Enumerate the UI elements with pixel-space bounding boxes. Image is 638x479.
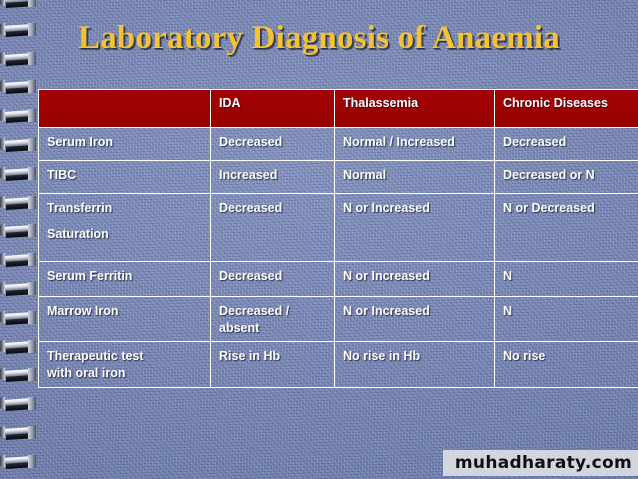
row-label-transferrin-saturation: Transferrin Saturation [39, 194, 211, 262]
cell-thalassemia: N or Increased [335, 262, 495, 297]
spiral-ring [0, 311, 40, 324]
cell-ida: Rise in Hb [211, 341, 335, 387]
spiral-ring-cap [0, 253, 5, 265]
cell-text: Increased [219, 168, 277, 182]
cell-chronic: N [495, 297, 638, 342]
row-label-serum-iron: Serum Iron [39, 128, 211, 161]
spiral-ring-cap [0, 426, 5, 438]
laboratory-diagnosis-table: IDA Thalassemia Chronic Diseases Serum I… [38, 89, 638, 388]
cell-chronic: No rise [495, 341, 638, 387]
diagnosis-table-container: IDA Thalassemia Chronic Diseases Serum I… [38, 89, 605, 388]
row-label-text-line2: Saturation [47, 226, 202, 243]
spiral-ring [0, 0, 40, 7]
spiral-ring [0, 397, 40, 410]
cell-ida: Decreased [211, 128, 335, 161]
table-header-row: IDA Thalassemia Chronic Diseases [39, 90, 638, 128]
spiral-ring-cap [0, 138, 5, 150]
spiral-ring [0, 167, 40, 180]
cell-ida: Decreased [211, 262, 335, 297]
spiral-binding [0, 0, 42, 479]
spiral-ring-hook [28, 52, 36, 65]
table-row: Serum Iron Decreased Normal / Increased … [39, 128, 638, 161]
column-header-parameter [39, 90, 211, 128]
spiral-ring [0, 80, 40, 93]
spiral-ring [0, 109, 40, 122]
cell-thalassemia: No rise in Hb [335, 341, 495, 387]
row-label-tibc: TIBC [39, 161, 211, 194]
row-label-text: Marrow Iron [47, 304, 119, 318]
spiral-ring-hook [28, 0, 36, 7]
spiral-ring [0, 426, 40, 439]
cell-ida: Decreased [211, 194, 335, 262]
cell-text: Decreased / [219, 304, 289, 318]
spiral-ring-cap [0, 282, 5, 294]
row-label-text: Serum Iron [47, 135, 113, 149]
table-row: Therapeutic test with oral iron Rise in … [39, 341, 638, 387]
spiral-ring-hook [28, 80, 36, 93]
spiral-ring-cap [0, 80, 5, 92]
cell-chronic: N [495, 262, 638, 297]
table-head: IDA Thalassemia Chronic Diseases [39, 90, 638, 128]
spiral-ring-cap [0, 311, 5, 323]
table-row: Serum Ferritin Decreased N or Increased … [39, 262, 638, 297]
spiral-ring-cap [0, 397, 5, 409]
spiral-ring-cap [0, 52, 5, 64]
spiral-ring-cap [0, 340, 5, 352]
spiral-ring [0, 52, 40, 65]
spiral-ring-cap [0, 196, 5, 208]
spiral-ring-hook [28, 138, 36, 151]
cell-text: Decreased [219, 135, 282, 149]
spiral-ring [0, 340, 40, 353]
cell-thalassemia: N or Increased [335, 194, 495, 262]
spiral-ring-cap [0, 23, 5, 35]
spiral-ring [0, 368, 40, 381]
cell-chronic: Decreased or N [495, 161, 638, 194]
spiral-ring [0, 23, 40, 36]
row-label-text: TIBC [47, 168, 76, 182]
cell-thalassemia: Normal [335, 161, 495, 194]
spiral-ring-hook [28, 224, 36, 237]
spiral-ring [0, 455, 40, 468]
spiral-ring-hook [28, 167, 36, 180]
spiral-ring-hook [28, 340, 36, 353]
cell-thalassemia: N or Increased [335, 297, 495, 342]
spiral-ring-cap [0, 109, 5, 121]
table-body: Serum Iron Decreased Normal / Increased … [39, 128, 638, 388]
table-row: TIBC Increased Normal Decreased or N [39, 161, 638, 194]
spiral-ring-hook [28, 253, 36, 266]
spiral-ring-cap [0, 0, 5, 6]
row-label-text-line2: with oral iron [47, 365, 202, 382]
slide-title: Laboratory Diagnosis of Anaemia [0, 20, 638, 57]
cell-chronic: Decreased [495, 128, 638, 161]
spiral-ring-hook [28, 455, 36, 468]
watermark-badge: muhadharaty.com [443, 450, 638, 476]
row-label-text: Serum Ferritin [47, 269, 132, 283]
column-header-ida: IDA [211, 90, 335, 128]
row-label-text: Therapeutic test [47, 349, 144, 363]
spiral-ring-hook [28, 368, 36, 381]
spiral-ring-cap [0, 224, 5, 236]
row-label-marrow-iron: Marrow Iron [39, 297, 211, 342]
table-row: Marrow Iron Decreased / absent N or Incr… [39, 297, 638, 342]
cell-text: Decreased [219, 269, 282, 283]
spiral-ring-hook [28, 426, 36, 439]
spiral-ring-cap [0, 167, 5, 179]
spiral-ring-hook [28, 109, 36, 122]
row-label-serum-ferritin: Serum Ferritin [39, 262, 211, 297]
spiral-ring-hook [28, 282, 36, 295]
spiral-ring [0, 196, 40, 209]
spiral-ring [0, 224, 40, 237]
spiral-ring-hook [28, 23, 36, 36]
cell-chronic: N or Decreased [495, 194, 638, 262]
cell-ida: Increased [211, 161, 335, 194]
spiral-ring-cap [0, 455, 5, 467]
row-label-text: Transferrin [47, 201, 112, 215]
watermark-text: muhadharaty.com [455, 453, 632, 473]
spiral-ring [0, 253, 40, 266]
cell-text: Decreased [219, 201, 282, 215]
cell-text-line2: absent [219, 320, 326, 337]
row-label-therapeutic-test: Therapeutic test with oral iron [39, 341, 211, 387]
column-header-thalassemia: Thalassemia [335, 90, 495, 128]
column-header-chronic-diseases: Chronic Diseases [495, 90, 638, 128]
spiral-ring-hook [28, 397, 36, 410]
spiral-ring-cap [0, 368, 5, 380]
slide-canvas: Laboratory Diagnosis of Anaemia IDA Thal… [0, 0, 638, 479]
table-row: Transferrin Saturation Decreased N or In… [39, 194, 638, 262]
spiral-ring-hook [28, 311, 36, 324]
cell-text: Rise in Hb [219, 349, 280, 363]
spiral-ring [0, 138, 40, 151]
cell-ida: Decreased / absent [211, 297, 335, 342]
spiral-ring [0, 282, 40, 295]
spiral-ring-hook [28, 196, 36, 209]
cell-thalassemia: Normal / Increased [335, 128, 495, 161]
